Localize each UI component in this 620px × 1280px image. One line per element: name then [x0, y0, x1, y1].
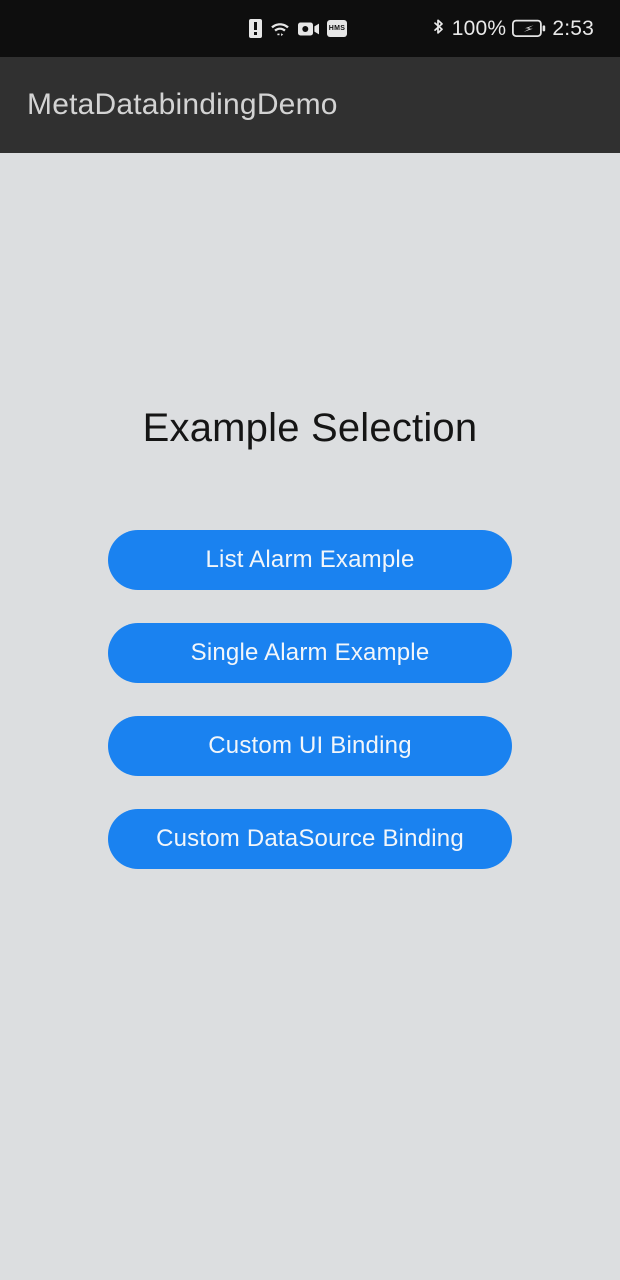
- alert-icon: [249, 19, 262, 38]
- single-alarm-example-button[interactable]: Single Alarm Example: [108, 623, 512, 683]
- main-content: Example Selection List Alarm Example Sin…: [0, 153, 620, 1280]
- status-bar-left-icons: HMS: [249, 0, 347, 57]
- clock-label: 2:53: [552, 17, 594, 41]
- example-button-list: List Alarm Example Single Alarm Example …: [108, 530, 512, 869]
- hms-icon: HMS: [327, 20, 347, 37]
- list-alarm-example-button[interactable]: List Alarm Example: [108, 530, 512, 590]
- video-camera-icon: [298, 22, 320, 36]
- app-bar-title: MetaDatabindingDemo: [27, 88, 338, 122]
- battery-percent-label: 100%: [452, 17, 507, 41]
- phone-screen: HMS 100% 2:53 MetaDatabindingDemo: [0, 0, 620, 1280]
- wifi-icon: [269, 19, 291, 39]
- bluetooth-icon: [431, 18, 446, 39]
- custom-ui-binding-button[interactable]: Custom UI Binding: [108, 716, 512, 776]
- status-bar-right-cluster: 100% 2:53: [431, 0, 594, 57]
- status-bar: HMS 100% 2:53: [0, 0, 620, 57]
- app-bar: MetaDatabindingDemo: [0, 57, 620, 153]
- custom-datasource-binding-button[interactable]: Custom DataSource Binding: [108, 809, 512, 869]
- page-title: Example Selection: [0, 406, 620, 451]
- battery-charging-icon: [512, 19, 546, 38]
